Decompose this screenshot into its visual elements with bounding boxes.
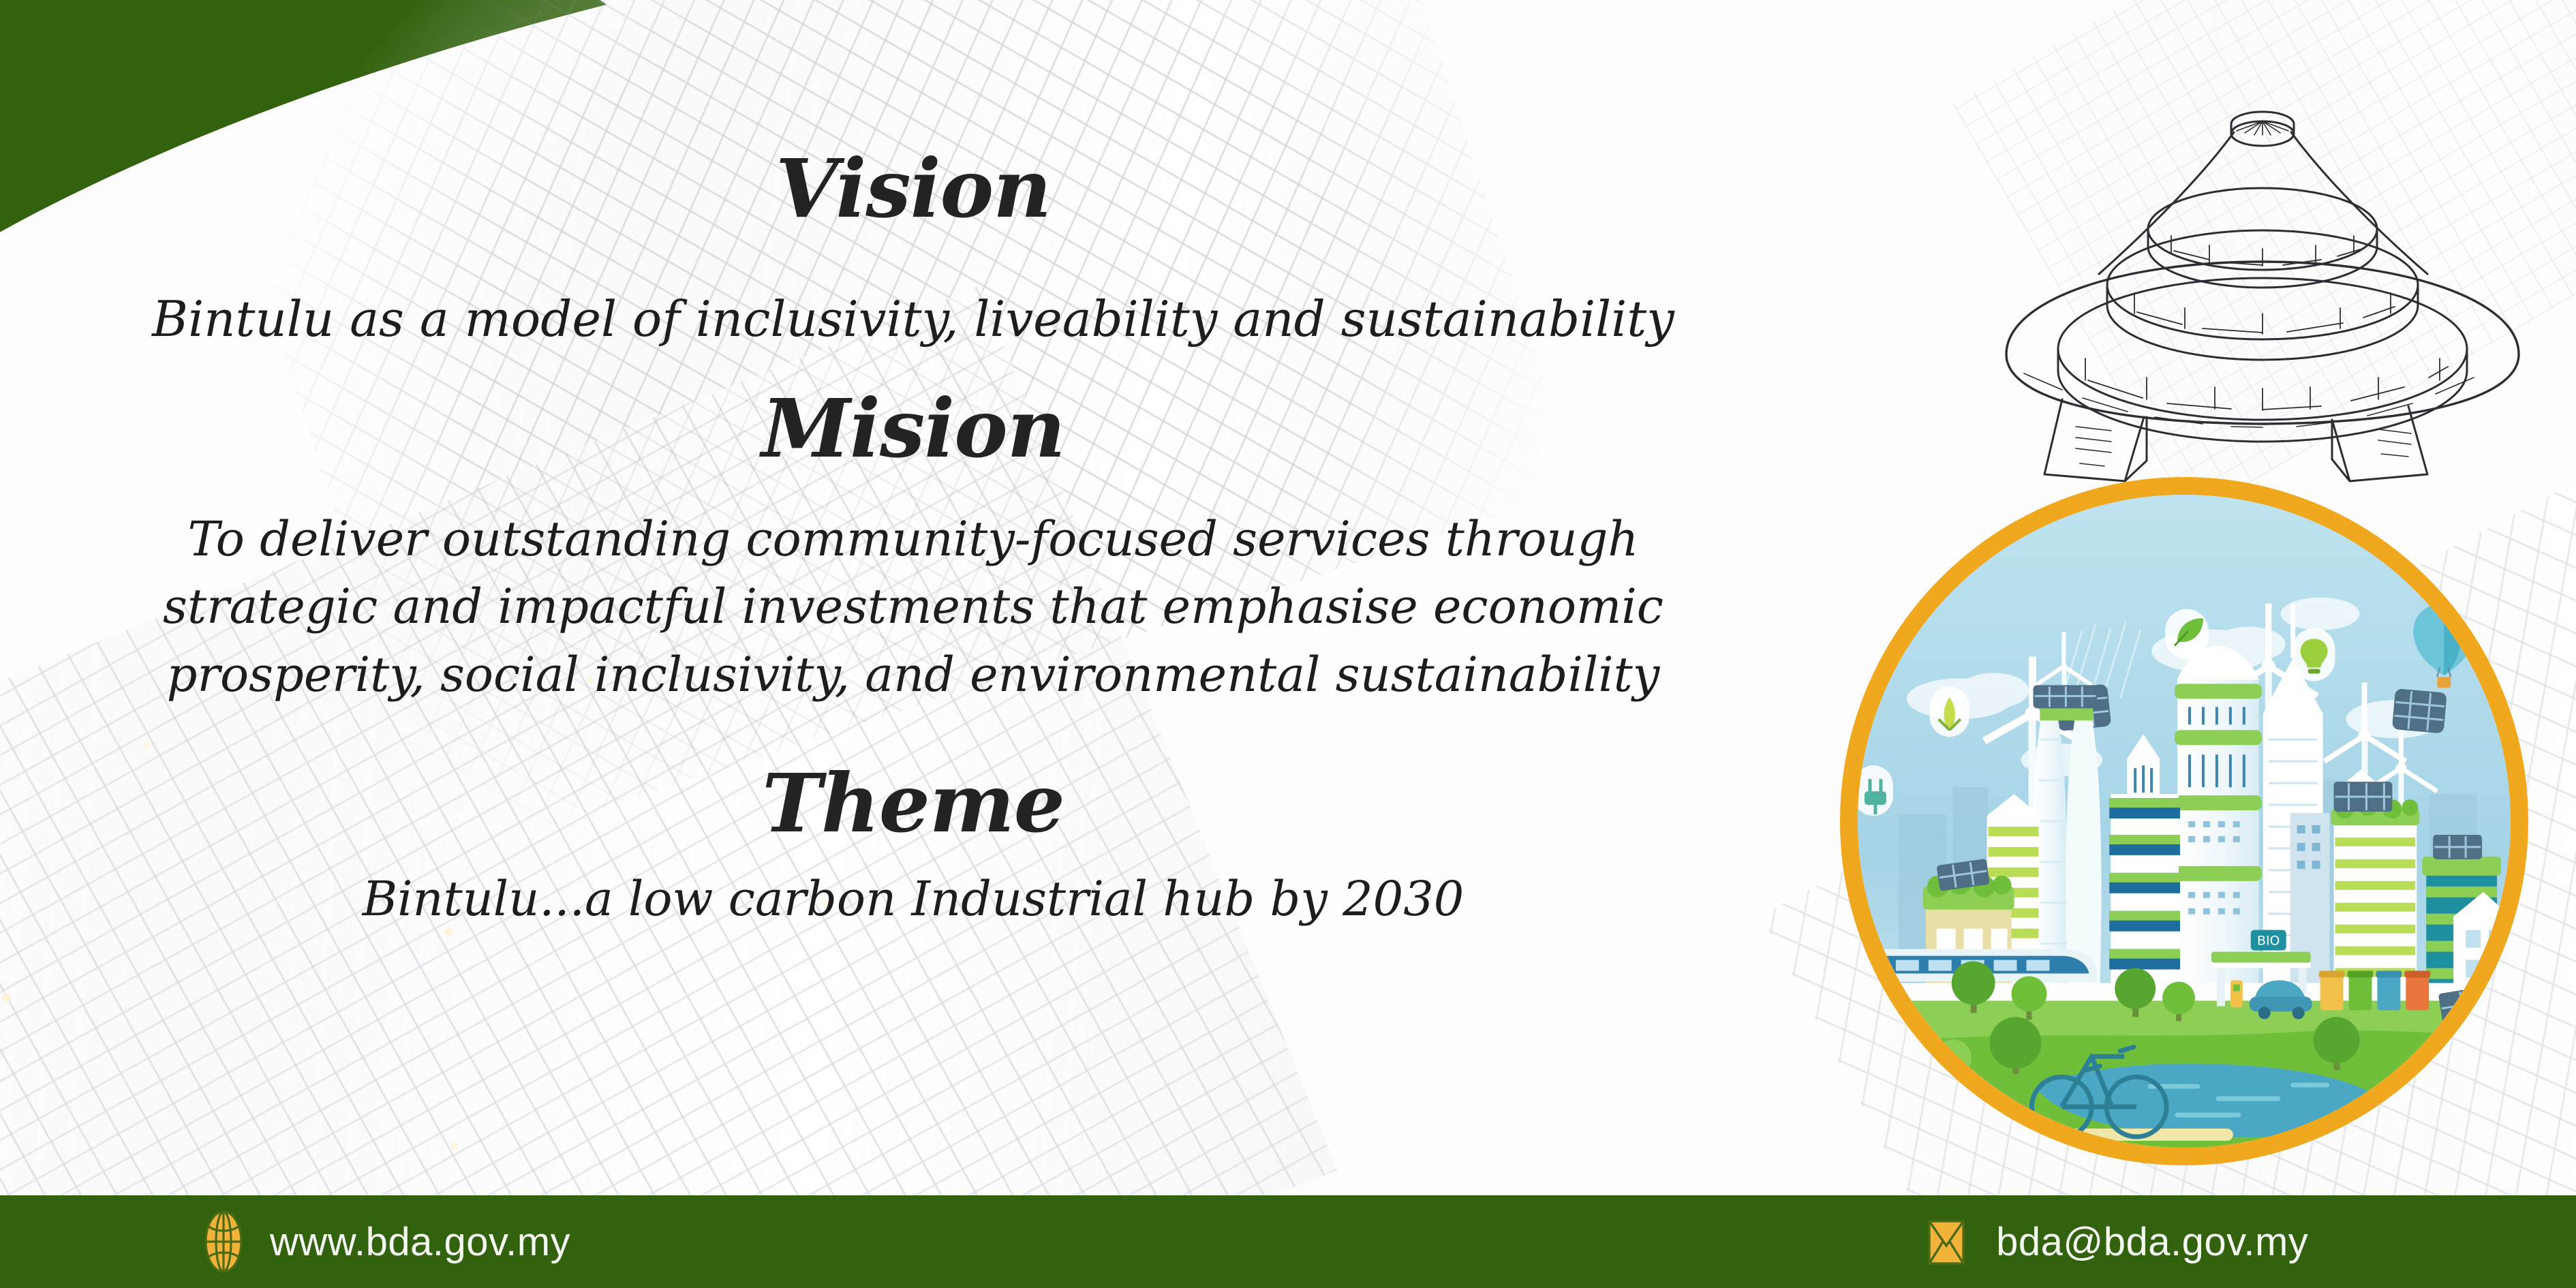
vision-mission-theme-text: Vision Bintulu as a model of inclusivity… [0, 0, 1826, 1172]
footer-contact-bar: www.bda.gov.my bda@bda.gov.my [0, 1195, 2576, 1288]
email-contact[interactable]: bda@bda.gov.my [1921, 1210, 2308, 1273]
bda-vision-mission-banner: BIO [0, 0, 2576, 1288]
mission-body-line: To deliver outstanding community-focused… [55, 506, 1772, 573]
mission-body-line: prosperity, social inclusivity, and envi… [55, 641, 1772, 709]
theme-heading: Theme [0, 763, 1826, 844]
theme-body: Bintulu...a low carbon Industrial hub by… [0, 874, 1826, 924]
eco-city-illustration: BIO [1840, 477, 2528, 1165]
vision-body: Bintulu as a model of inclusivity, livea… [0, 293, 1826, 345]
mission-body: To deliver outstanding community-focused… [55, 506, 1772, 709]
bintulu-council-dome-line-art [1942, 95, 2576, 484]
website-label: www.bda.gov.my [270, 1219, 570, 1265]
mission-heading: Mision [0, 388, 1826, 469]
corn-badge [1930, 686, 1969, 737]
svg-text:BIO: BIO [2257, 934, 2280, 949]
plug-badge [1858, 765, 1893, 816]
globe-icon [202, 1210, 245, 1273]
email-label: bda@bda.gov.my [1996, 1219, 2308, 1265]
website-contact[interactable]: www.bda.gov.my [202, 1210, 570, 1273]
envelope-icon [1921, 1210, 1972, 1273]
solar-badge-right [2392, 688, 2447, 733]
mission-body-line: strategic and impactful investments that… [55, 573, 1772, 641]
vision-heading: Vision [0, 149, 1826, 229]
